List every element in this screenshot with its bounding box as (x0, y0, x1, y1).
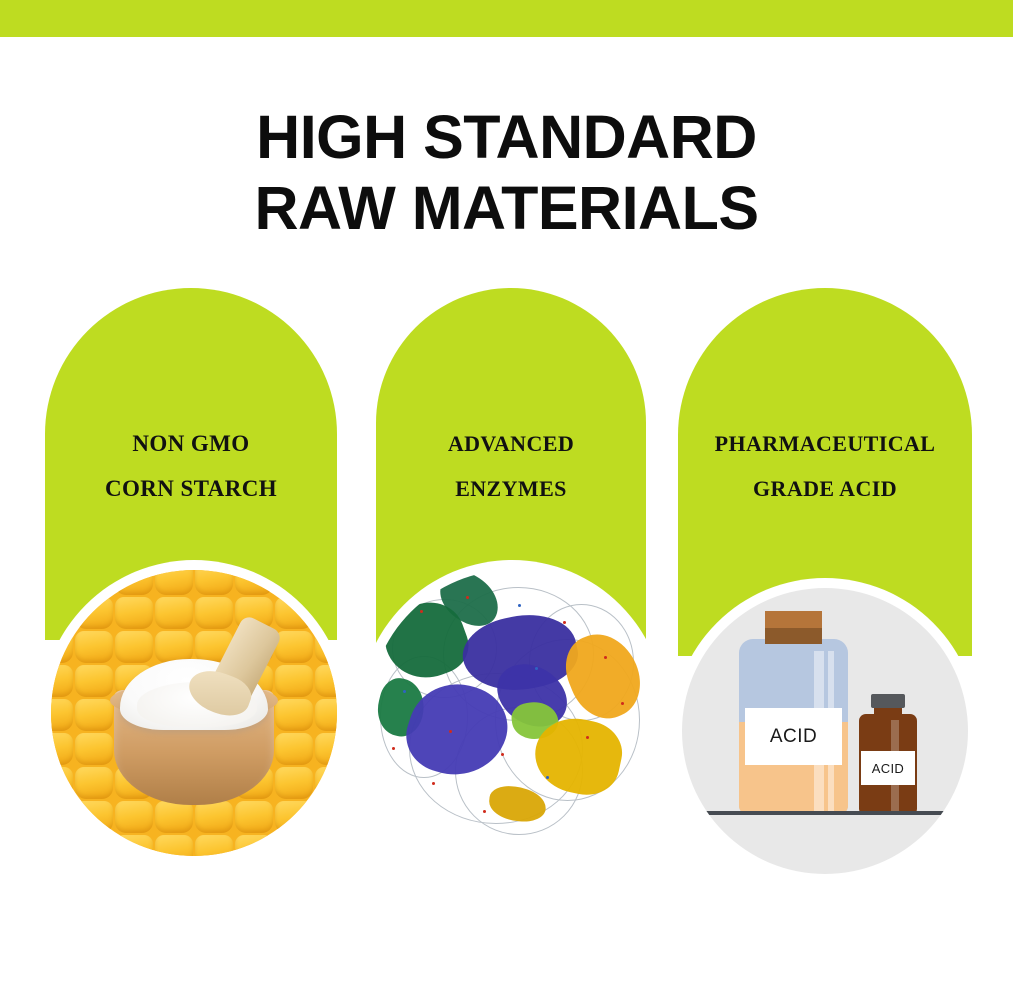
top-accent-bar (0, 0, 1013, 37)
card-label-line-1: ADVANCED (376, 421, 646, 466)
acid-bottles-illustration: ACID ACID (682, 588, 968, 874)
page-title-line-2: RAW MATERIALS (0, 173, 1013, 244)
card-label: NON GMO CORN STARCH (45, 421, 337, 511)
card-label-line-2: CORN STARCH (45, 466, 337, 511)
corn-starch-image-disc (41, 560, 347, 866)
large-acid-bottle-label: ACID (745, 708, 842, 765)
large-acid-bottle-cork-shadow (765, 628, 822, 644)
corn-starch-photo (51, 570, 337, 856)
acid-image-disc: ACID ACID (672, 578, 978, 884)
small-acid-bottle-cap (871, 694, 905, 708)
page-title-line-1: HIGH STANDARD (0, 102, 1013, 173)
small-acid-label-text: ACID (872, 761, 904, 776)
card-label-line-1: PHARMACEUTICAL (678, 421, 972, 466)
small-acid-bottle-label: ACID (861, 751, 915, 785)
card-label: ADVANCED ENZYMES (376, 421, 646, 511)
bottle-shelf-line (693, 811, 956, 815)
enzyme-image-disc (359, 560, 665, 866)
protein-structure-photo (369, 570, 655, 856)
card-label: PHARMACEUTICAL GRADE ACID (678, 421, 972, 511)
card-label-line-2: ENZYMES (376, 466, 646, 511)
card-label-line-2: GRADE ACID (678, 466, 972, 511)
card-label-line-1: NON GMO (45, 421, 337, 466)
poster-canvas: HIGH STANDARD RAW MATERIALS NON GMO CORN… (0, 0, 1013, 1000)
cards-row: NON GMO CORN STARCH (0, 288, 1013, 908)
large-acid-label-text: ACID (770, 726, 817, 748)
page-title: HIGH STANDARD RAW MATERIALS (0, 102, 1013, 244)
